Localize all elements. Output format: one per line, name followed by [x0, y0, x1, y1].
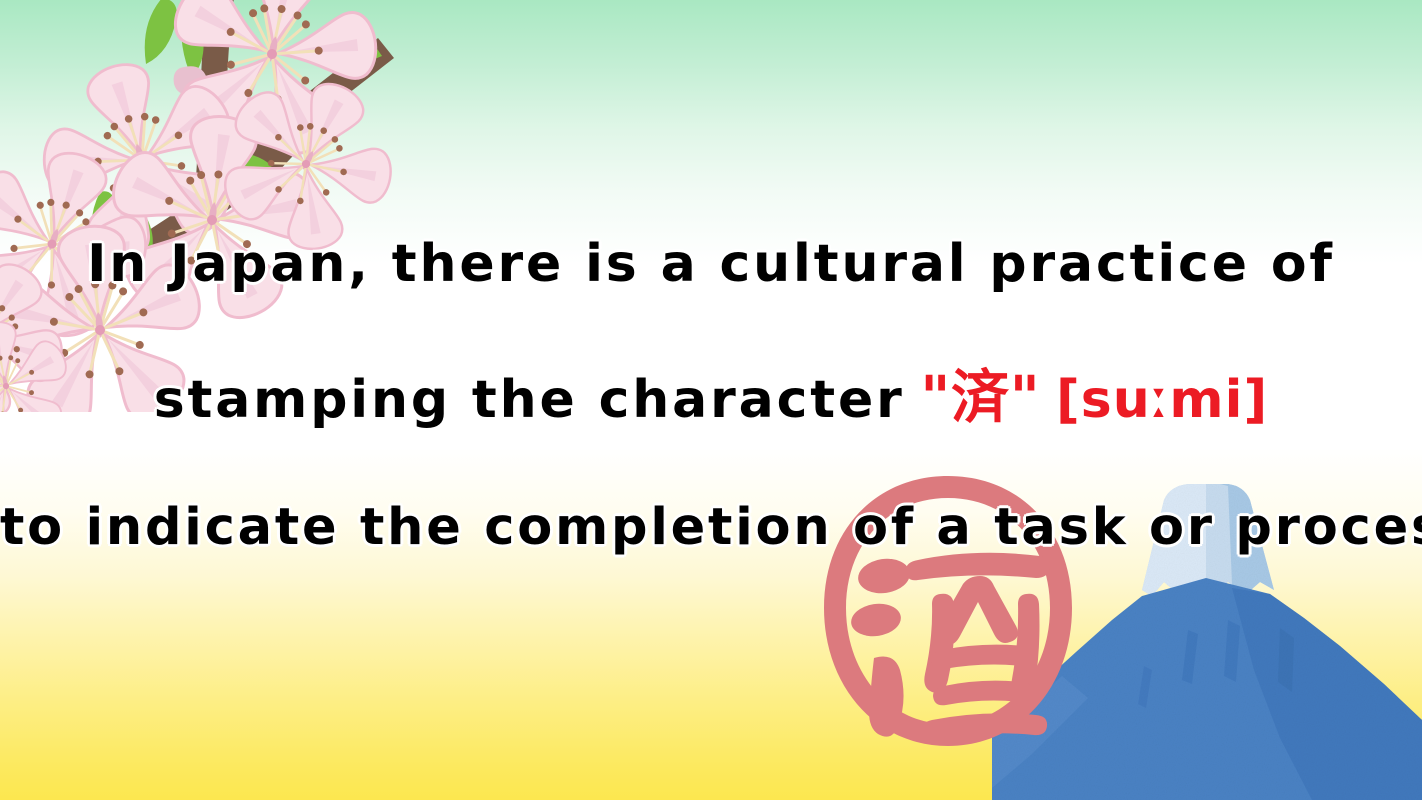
ipa-highlight: [suːmi] — [1056, 370, 1268, 430]
caption-line-2: stamping the character"済"[suːmi] — [0, 368, 1422, 426]
branch-group — [0, 0, 394, 382]
caption-line-3: to indicate the completion of a task or … — [0, 502, 1422, 553]
caption-line-2-prefix: stamping the character — [154, 370, 905, 430]
hanko-stamp-illustration — [812, 468, 1084, 758]
caption-line-1: In Japan, there is a cultural practice o… — [0, 238, 1422, 290]
blossom-group — [0, 0, 396, 412]
cherry-blossom-illustration — [0, 0, 396, 412]
leaf-group — [0, 0, 382, 326]
caption-text-block: In Japan, there is a cultural practice o… — [0, 0, 1422, 800]
slide-canvas: In Japan, there is a cultural practice o… — [0, 0, 1422, 800]
bud-group — [16, 66, 208, 337]
mount-fuji-illustration — [992, 470, 1422, 800]
kanji-highlight: "済" — [920, 363, 1040, 431]
